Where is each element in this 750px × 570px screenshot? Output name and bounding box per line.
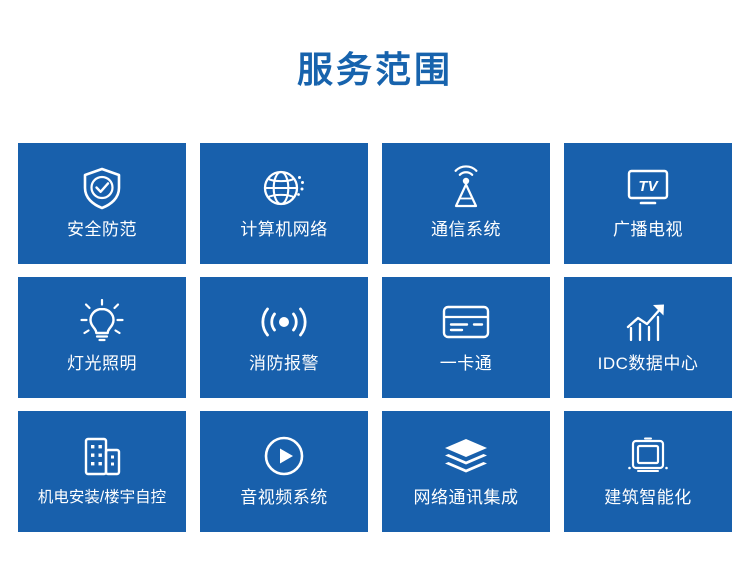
monitor-frame-icon — [624, 433, 672, 479]
tv-icon: TV — [624, 165, 672, 211]
service-card-label: 计算机网络 — [240, 219, 328, 241]
service-card-fire-alarm[interactable]: 消防报警 — [200, 277, 368, 398]
service-card-computer-network[interactable]: 计算机网络 — [200, 143, 368, 264]
service-card-label: IDC数据中心 — [598, 353, 699, 375]
service-card-label: 通信系统 — [431, 219, 501, 241]
service-card-label: 建筑智能化 — [604, 487, 692, 509]
service-card-label: 安全防范 — [67, 219, 137, 241]
service-card-label: 灯光照明 — [67, 353, 137, 375]
service-card-mep-building-automation[interactable]: 机电安装/楼宇自控 — [18, 411, 186, 532]
service-card-label: 广播电视 — [613, 219, 683, 241]
service-card-av-system[interactable]: 音视频系统 — [200, 411, 368, 532]
service-card-label: 机电安装/楼宇自控 — [38, 487, 166, 509]
id-card-icon — [440, 299, 492, 345]
service-card-idc-data-center[interactable]: IDC数据中心 — [564, 277, 732, 398]
service-card-label: 一卡通 — [440, 353, 493, 375]
layers-stack-icon — [442, 433, 490, 479]
service-card-grid: 安全防范 计算机网络 — [18, 143, 732, 532]
page-title: 服务范围 — [0, 48, 750, 92]
service-card-security[interactable]: 安全防范 — [18, 143, 186, 264]
antenna-signal-icon — [443, 165, 489, 211]
service-card-label: 消防报警 — [249, 353, 319, 375]
service-card-network-integration[interactable]: 网络通讯集成 — [382, 411, 550, 532]
service-card-communication[interactable]: 通信系统 — [382, 143, 550, 264]
service-card-building-intelligence[interactable]: 建筑智能化 — [564, 411, 732, 532]
globe-network-icon — [260, 165, 308, 211]
service-card-label: 网络通讯集成 — [414, 487, 519, 509]
service-card-all-in-one-card[interactable]: 一卡通 — [382, 277, 550, 398]
service-card-lighting[interactable]: 灯光照明 — [18, 277, 186, 398]
service-card-broadcast-tv[interactable]: TV 广播电视 — [564, 143, 732, 264]
lightbulb-icon — [78, 299, 126, 345]
service-scope-page: 服务范围 安全防范 — [0, 0, 750, 570]
shield-check-icon — [80, 165, 124, 211]
tv-icon-text: TV — [638, 178, 659, 195]
buildings-icon — [78, 433, 126, 479]
play-circle-icon — [262, 433, 306, 479]
service-card-label: 音视频系统 — [240, 487, 328, 509]
alarm-signal-icon — [258, 299, 310, 345]
growth-chart-icon — [623, 299, 673, 345]
